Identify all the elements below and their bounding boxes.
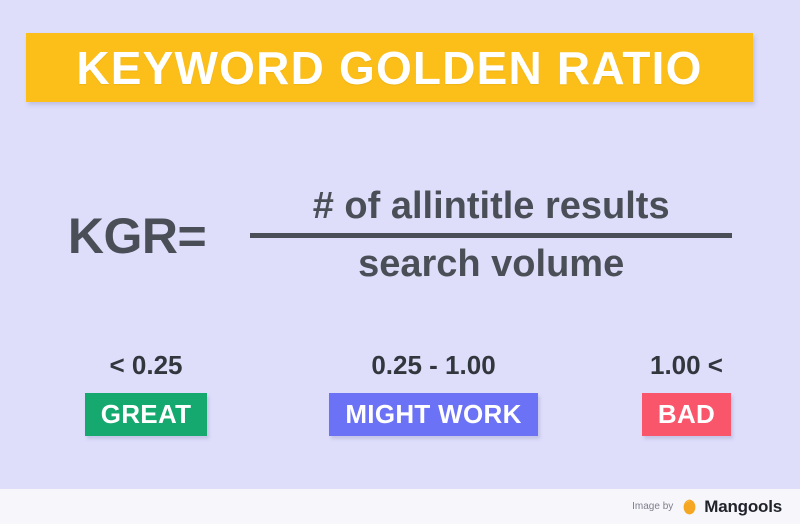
page-title: KEYWORD GOLDEN RATIO — [76, 45, 702, 91]
formula-numerator: # of allintitle results — [313, 186, 670, 227]
formula-fraction: # of allintitle results search volume — [250, 186, 732, 285]
formula-left-hand-side: KGR= — [68, 211, 206, 261]
status-badge-great: GREAT — [85, 393, 208, 436]
brand-name: Mangools — [704, 498, 782, 515]
mango-icon — [682, 499, 697, 515]
status-badge-might-work: MIGHT WORK — [329, 393, 537, 436]
range-item-might-work: 0.25 - 1.00 MIGHT WORK — [314, 352, 554, 436]
kgr-formula: KGR= # of allintitle results search volu… — [0, 168, 800, 303]
range-legend: < 0.25 GREAT 0.25 - 1.00 MIGHT WORK 1.00… — [0, 352, 800, 444]
range-value-great: < 0.25 — [109, 352, 182, 378]
title-banner: KEYWORD GOLDEN RATIO — [26, 33, 753, 102]
kgr-infographic: KEYWORD GOLDEN RATIO KGR= # of allintitl… — [0, 0, 800, 524]
footer-attribution: Image by Mangools — [0, 489, 800, 524]
attribution-label: Image by — [632, 502, 673, 512]
fraction-bar — [250, 233, 732, 238]
formula-denominator: search volume — [358, 244, 624, 285]
range-item-great: < 0.25 GREAT — [39, 352, 254, 436]
range-value-bad: 1.00 < — [650, 352, 723, 378]
status-badge-bad: BAD — [642, 393, 731, 436]
range-item-bad: 1.00 < BAD — [612, 352, 762, 436]
range-value-might-work: 0.25 - 1.00 — [371, 352, 495, 378]
